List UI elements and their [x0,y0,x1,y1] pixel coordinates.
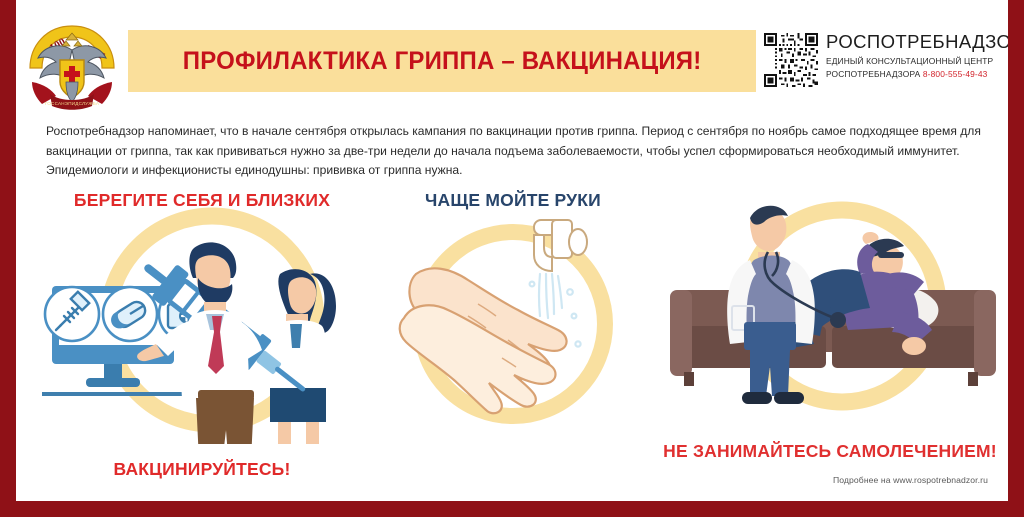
illustration-panels: БЕРЕГИТЕ СЕБЯ И БЛИЗКИХ [16,186,1008,486]
poster-frame: 100 ЛЕТ [0,0,1024,517]
org-subtitle-line1: ЕДИНЫЙ КОНСУЛЬТАЦИОННЫЙ ЦЕНТР [826,56,993,66]
panel-handwashing-caption-top: ЧАЩЕ МОЙТЕ РУКИ [382,190,644,211]
lead-paragraph: Роспотребнадзор напоминает, что в начале… [46,122,990,181]
page-title: ПРОФИЛАКТИКА ГРИППА – ВАКЦИНАЦИЯ! [183,47,702,76]
qr-code-icon [764,33,818,87]
org-name: РОСПОТРЕБНАДЗОР [826,32,1008,51]
emblem-ribbon-label: ГОССАНЭПИДСЛУЖБА [45,101,100,106]
panel-vaccination: БЕРЕГИТЕ СЕБЯ И БЛИЗКИХ [34,186,370,486]
title-banner: ПРОФИЛАКТИКА ГРИППА – ВАКЦИНАЦИЯ! [128,30,756,92]
hotline-phone: 8-800-555-49-43 [923,69,988,79]
doctor-nurse-syringe-illustration [34,204,370,444]
org-subtitle-line2: РОСПОТРЕБНАДЗОРА [826,69,920,79]
panel-self-medication-caption-bottom: НЕ ЗАНИМАЙТЕСЬ САМОЛЕЧЕНИЕМ! [656,441,1004,462]
handwashing-illustration [382,212,644,437]
rospotrebnadzor-contact-block: РОСПОТРЕБНАДЗОР ЕДИНЫЙ КОНСУЛЬТАЦИОННЫЙ … [764,30,1008,94]
rospotrebnadzor-emblem-icon: 100 ЛЕТ [22,20,122,112]
footer-more-info: Подробнее на www.rospotrebnadzor.ru [833,475,988,485]
panel-handwashing: ЧАЩЕ МОЙТЕ РУКИ [382,186,644,486]
org-text-block: РОСПОТРЕБНАДЗОР ЕДИНЫЙ КОНСУЛЬТАЦИОННЫЙ … [826,30,1008,80]
org-subtitle: ЕДИНЫЙ КОНСУЛЬТАЦИОННЫЙ ЦЕНТР РОСПОТРЕБН… [826,55,1008,79]
doctor-patient-couch-illustration [656,186,1004,414]
header: 100 ЛЕТ [16,14,1008,108]
panel-self-medication: НЕ ЗАНИМАЙТЕСЬ САМОЛЕЧЕНИЕМ! [656,186,1004,486]
poster-canvas: 100 ЛЕТ [16,0,1008,501]
nurse-figure [269,269,336,444]
stethoscope-chestpiece [830,312,846,328]
panel-vaccination-caption-bottom: ВАКЦИНИРУЙТЕСЬ! [34,459,370,480]
